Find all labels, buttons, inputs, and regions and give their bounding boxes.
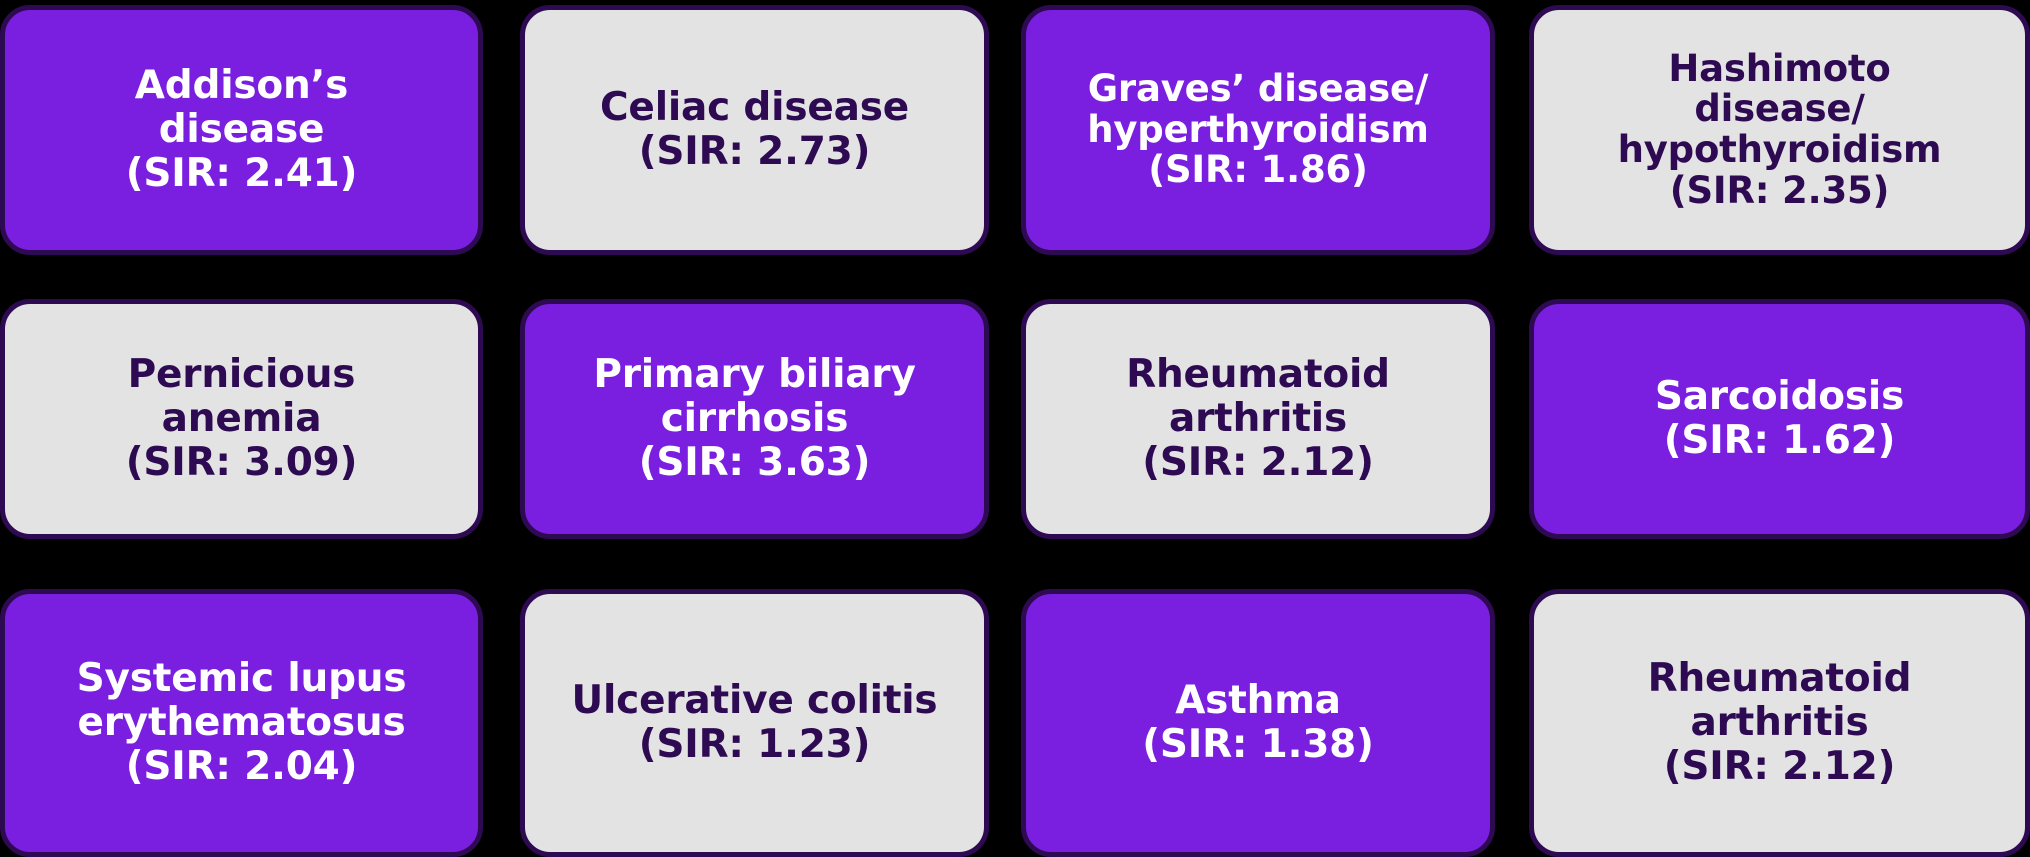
condition-card-primary-biliary-cirrhosis[interactable]: Primary biliary cirrhosis (SIR: 3.63) [520,299,989,539]
condition-card-sarcoidosis[interactable]: Sarcoidosis (SIR: 1.62) [1529,299,2030,539]
condition-card-ulcerative-colitis[interactable]: Ulcerative colitis (SIR: 1.23) [520,589,989,857]
condition-card-grid: Addison’s disease (SIR: 2.41) Celiac dis… [0,0,2030,852]
condition-card-rheumatoid-arthritis-row3[interactable]: Rheumatoid arthritis (SIR: 2.12) [1529,589,2030,857]
condition-card-label: Asthma (SIR: 1.38) [1142,679,1373,766]
condition-card-label: Primary biliary cirrhosis (SIR: 3.63) [593,353,915,484]
condition-card-label: Rheumatoid arthritis (SIR: 2.12) [1126,353,1390,484]
condition-card-label: Sarcoidosis (SIR: 1.62) [1655,375,1904,462]
condition-card-label: Rheumatoid arthritis (SIR: 2.12) [1648,657,1912,788]
condition-card-pernicious-anemia[interactable]: Pernicious anemia (SIR: 3.09) [0,299,483,539]
condition-card-label: Graves’ disease/ hyperthyroidism (SIR: 1… [1087,69,1429,191]
condition-card-addisons-disease[interactable]: Addison’s disease (SIR: 2.41) [0,5,483,255]
condition-card-label: Celiac disease (SIR: 2.73) [600,86,909,173]
condition-card-label: Systemic lupus erythematosus (SIR: 2.04) [77,657,407,788]
condition-card-graves-disease-hyperthyroidism[interactable]: Graves’ disease/ hyperthyroidism (SIR: 1… [1021,5,1495,255]
condition-card-hashimoto-disease-hypothyroidism[interactable]: Hashimoto disease/ hypothyroidism (SIR: … [1529,5,2030,255]
condition-card-rheumatoid-arthritis-row2[interactable]: Rheumatoid arthritis (SIR: 2.12) [1021,299,1495,539]
condition-card-label: Hashimoto disease/ hypothyroidism (SIR: … [1618,49,1942,212]
condition-card-label: Ulcerative colitis (SIR: 1.23) [572,679,938,766]
condition-card-label: Pernicious anemia (SIR: 3.09) [126,353,357,484]
condition-card-asthma[interactable]: Asthma (SIR: 1.38) [1021,589,1495,857]
condition-card-systemic-lupus-erythematosus[interactable]: Systemic lupus erythematosus (SIR: 2.04) [0,589,483,857]
condition-card-label: Addison’s disease (SIR: 2.41) [126,64,357,195]
condition-card-celiac-disease[interactable]: Celiac disease (SIR: 2.73) [520,5,989,255]
